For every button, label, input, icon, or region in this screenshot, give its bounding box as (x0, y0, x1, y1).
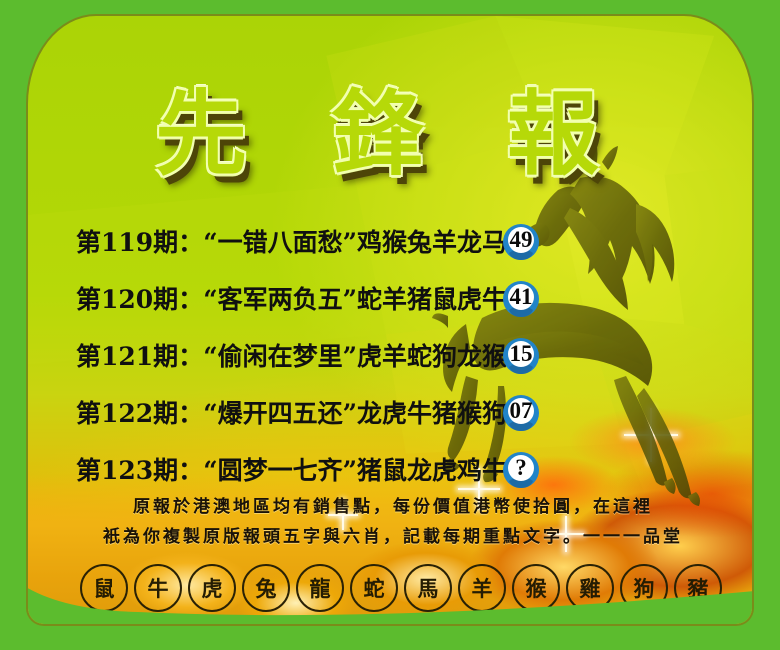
forecast-row: 第122期： “爆开四五还” 龙虎牛猪猴狗 07 (76, 383, 546, 440)
footer-note: 原報於港澳地區均有銷售點，每份價值港幣使拾圓，在這裡 衹為你複製原版報頭五字與六… (58, 492, 728, 552)
forecast-phrase: “偷闲在梦里” (203, 337, 357, 373)
lottery-ball: ? (501, 449, 541, 489)
forecast-phrase: “客军两负五” (203, 280, 357, 316)
forecast-phrase: “爆开四五还” (203, 394, 357, 430)
page-title: 先 鋒 報 (28, 60, 752, 193)
lottery-ball: 49 (501, 221, 541, 261)
bottom-curve (26, 560, 754, 626)
forecast-row: 第119期： “一错八面愁” 鸡猴兔羊龙马 49 (76, 212, 546, 269)
forecast-list: 第119期： “一错八面愁” 鸡猴兔羊龙马 49 第120期： “客军两负五” … (76, 212, 546, 497)
ball-number: 07 (501, 392, 541, 432)
forecast-phrase: “一错八面愁” (203, 223, 357, 259)
footer-line-1: 原報於港澳地區均有銷售點，每份價值港幣使拾圓，在這裡 (58, 492, 728, 522)
forecast-zodiacs: 龙虎牛猪猴狗 (357, 394, 507, 430)
forecast-issue: 第122期： (76, 394, 203, 430)
lottery-ball: 07 (501, 392, 541, 432)
ball-number: 15 (501, 335, 541, 375)
lottery-ball: 15 (501, 335, 541, 375)
forecast-phrase: “圆梦一七齐” (203, 451, 357, 487)
forecast-zodiacs: 鸡猴兔羊龙马 (357, 223, 507, 259)
footer-line-2: 衹為你複製原版報頭五字與六肖，記載每期重點文字。一一一品堂 (58, 522, 728, 552)
forecast-zodiacs: 猪鼠龙虎鸡牛 (357, 451, 507, 487)
forecast-issue: 第123期： (76, 451, 203, 487)
poster-panel: 先 鋒 報 第119期： “一错八面愁” 鸡猴兔羊龙马 49 第120期： (26, 14, 754, 626)
lottery-ball: 41 (501, 278, 541, 318)
forecast-issue: 第121期： (76, 337, 203, 373)
forecast-zodiacs: 虎羊蛇狗龙猴 (357, 337, 507, 373)
forecast-issue: 第120期： (76, 280, 203, 316)
ball-number: 49 (501, 221, 541, 261)
poster-canvas: 先 鋒 報 第119期： “一错八面愁” 鸡猴兔羊龙马 49 第120期： (0, 0, 780, 650)
forecast-row: 第123期： “圆梦一七齐” 猪鼠龙虎鸡牛 ? (76, 440, 546, 497)
forecast-row: 第121期： “偷闲在梦里” 虎羊蛇狗龙猴 15 (76, 326, 546, 383)
forecast-zodiacs: 蛇羊猪鼠虎牛 (357, 280, 507, 316)
forecast-row: 第120期： “客军两负五” 蛇羊猪鼠虎牛 41 (76, 269, 546, 326)
ball-number: ? (501, 449, 541, 489)
forecast-issue: 第119期： (76, 223, 203, 259)
ball-number: 41 (501, 278, 541, 318)
